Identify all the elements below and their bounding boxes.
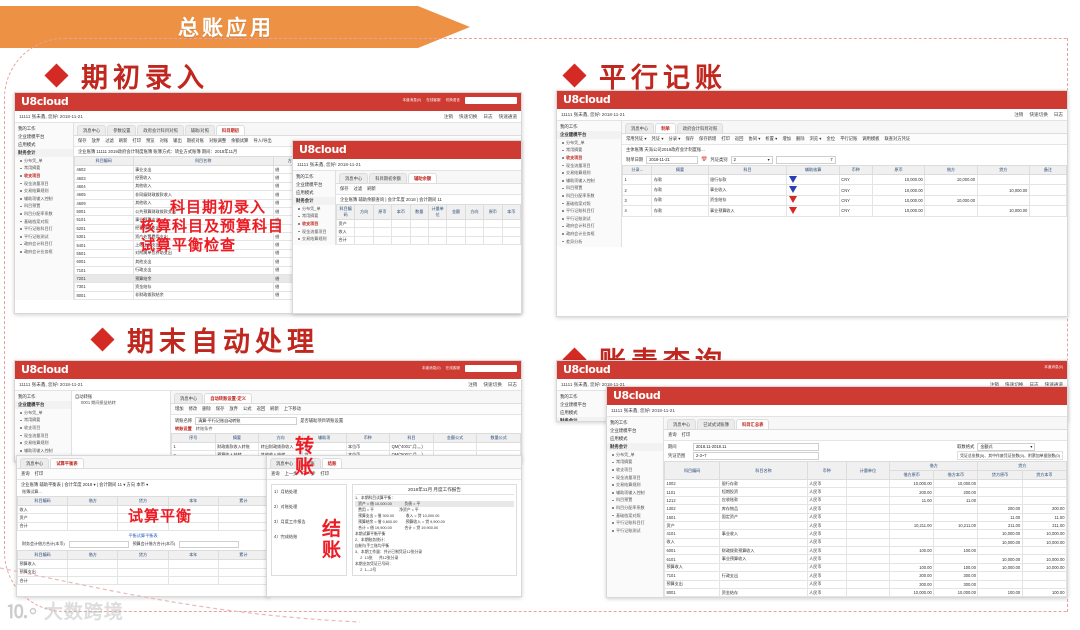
table-row: 8401经营结余人民币300.00300.00 <box>665 597 1067 598</box>
app-titlebar: U8cloud <box>607 387 1067 405</box>
sidebar-sub-item[interactable]: 基础档案对照 <box>607 512 663 520</box>
tab-settings[interactable]: 参数设置 <box>107 125 136 135</box>
sidebar-sub-item-selected[interactable]: 收支项目 <box>557 154 621 162</box>
section-label: 期末自动处理 <box>127 320 319 359</box>
tab-message-center[interactable]: 消息中心 <box>339 173 368 183</box>
col-group-debit: 借方 <box>890 462 978 471</box>
sidebar-sub-item[interactable]: 分布凭_单 <box>15 409 71 417</box>
cell-currency: 人民币 <box>807 530 846 538</box>
message-count[interactable]: 本道消息(0) <box>402 98 421 103</box>
cell-credit-base: 100.00 <box>1022 588 1066 596</box>
sidebar-item-platform[interactable]: 企业建模平台 <box>557 401 607 409</box>
cell-unit <box>846 513 889 521</box>
section-title-period-end: 期末自动处理 <box>94 320 319 359</box>
sidebar-sub-item[interactable]: 分布凭_单 <box>607 451 663 459</box>
tab-account-summary[interactable]: 科目汇总表 <box>736 419 769 429</box>
cell-code: 收入 <box>665 538 720 546</box>
sidebar-item-platform[interactable]: 企业建模平台 <box>293 181 335 189</box>
toolbar-button-2[interactable]: 删除 <box>202 406 211 412</box>
cell-credit-base <box>1022 547 1066 555</box>
sidebar-sub-item[interactable]: 科目分配率系数 <box>607 504 663 512</box>
cell-debit: 10,000.00 <box>925 175 977 185</box>
save-button[interactable]: 保存 <box>340 186 349 192</box>
online-service-link[interactable]: 在线客服 <box>426 98 440 103</box>
cell-abstract: 存款 <box>652 206 708 216</box>
trial-balance-link[interactable]: 平衡试算平衡表 <box>17 531 269 541</box>
sidebar-sub-item[interactable]: 政府会计科目打 <box>557 223 621 231</box>
cell-label: 收入 <box>337 228 355 236</box>
trial-query-line: 企业账簿 辅助平衡表 | 会计年度 2018 ▾ | 会计期间 11 ▾ 方向 … <box>17 480 269 489</box>
search-input[interactable] <box>465 97 517 104</box>
transfer-name-line: 转账名称 清算-平行记账自动转账 是否辅助项目转账设置 <box>171 415 521 426</box>
cell-value <box>68 560 118 568</box>
print-button[interactable]: 打印 <box>320 471 329 477</box>
cell-debit-orig: 300.00 <box>890 572 934 580</box>
sidebar-sub-item[interactable]: 辅助项输入控制 <box>15 195 73 203</box>
sidebar-sub-item[interactable]: 现金流量项目 <box>293 228 335 236</box>
aux-balance-table: 科目编码方向原币本币数量计量单位金额方向原币本币 资产收入合计 <box>336 204 521 245</box>
query-button[interactable]: 查询 <box>21 471 30 477</box>
sidebar-item-my-work[interactable]: 我的工作 <box>15 125 73 133</box>
toolbar-button-3[interactable]: 保存 <box>685 136 694 142</box>
toolbar-button-0[interactable]: 增加 <box>175 406 184 412</box>
sidebar-sub-item[interactable]: 交易结算规则 <box>607 481 663 489</box>
cell-currency: 人民币 <box>807 547 846 555</box>
budget-debit-total-label: 预算会计借方合计(本币) <box>133 541 176 548</box>
sidebar-sub-item[interactable]: 政府会计科目打 <box>15 241 73 249</box>
annotation-closing: 结 账 <box>322 519 342 561</box>
toolbar-button-7[interactable]: 刷新 <box>270 406 279 412</box>
cell-debit-base <box>934 513 978 521</box>
online-service-link[interactable]: 在线客服 <box>446 366 460 371</box>
reconcile-button[interactable]: 对账 <box>160 138 169 144</box>
cell-credit-base <box>1022 572 1066 580</box>
diamond-bullet-icon <box>562 63 586 87</box>
tab-message-center[interactable]: 消息中心 <box>625 123 654 133</box>
cell-name: 事业支出 <box>133 166 273 174</box>
sidebar-sub-item[interactable]: 常用摘要 <box>293 213 335 221</box>
sidebar-sub-item[interactable]: 差异分析 <box>557 238 621 246</box>
cell-value <box>68 522 118 530</box>
tab-aux-map[interactable]: 辅助i对照 <box>185 125 215 135</box>
sidebar-sub-item[interactable]: 科目分配率系数 <box>557 192 621 200</box>
sidebar-sub-item[interactable]: 平行记账测试 <box>607 527 663 535</box>
sidebar-item-my-work[interactable]: 我的工作 <box>607 419 663 427</box>
initial-reconcile-button[interactable]: 期初对账 <box>187 138 204 144</box>
sidebar-sub-item[interactable]: 分布凭_单 <box>15 157 73 165</box>
sidebar-sub-item[interactable]: 收支项目 <box>607 466 663 474</box>
cell-debit-base: 10,000.00 <box>934 480 978 488</box>
cell-currency: CNY <box>839 195 872 205</box>
user-actions: 注销 快速切换 日志 <box>1014 112 1063 118</box>
sidebar-item-platform[interactable]: 企业建模平台 <box>607 427 663 435</box>
refresh-button[interactable]: 刷新 <box>367 186 376 192</box>
sidebar-sub-item[interactable]: 常用摘要 <box>15 417 71 425</box>
sidebar-items: 分布凭_单常用摘要收支项目现金流量项目交易结算规则辅助项输入控制科目预置科目分配… <box>557 139 621 245</box>
sidebar-sub-item[interactable]: 分布凭_单 <box>293 205 335 213</box>
cell-code: 6101 <box>665 555 720 563</box>
cell-memo <box>1029 185 1066 195</box>
tab-auto-transfer-define[interactable]: 自动转账设置-定义 <box>204 393 252 403</box>
toolbar-button-13[interactable]: 平行记账 <box>840 136 857 142</box>
cell-formula: QM("4001",月,,,,) <box>390 443 434 451</box>
tab-message-center[interactable]: 消息中心 <box>174 393 203 403</box>
cell-name <box>720 521 807 529</box>
cell-credit: 10,000.00 <box>977 185 1029 195</box>
cell-currency: 人民币 <box>807 496 846 504</box>
toolbar: 查询 打印 <box>17 469 269 480</box>
toolbar-button-9[interactable]: 增加 <box>782 136 791 142</box>
print-button[interactable]: 打印 <box>682 432 691 438</box>
sidebar-item-financial-accounting[interactable]: 财务会计 <box>607 443 663 451</box>
section-title-initial-entry: 期初录入 <box>48 56 209 95</box>
toolbar-button-12[interactable]: 金位 <box>826 136 835 142</box>
table-row: 4101事业收入人民币10,000.0010,000.00 <box>665 530 1067 538</box>
tab-gov-account-map[interactable]: 政府会计科目对照 <box>137 125 183 135</box>
cell-code: 8401 <box>665 597 720 598</box>
reconcile-adjust-button[interactable]: 对账调整 <box>209 138 226 144</box>
sidebar-item-my-work[interactable]: 我的工作 <box>557 123 621 131</box>
tab-aux-balance[interactable]: 辅助余额 <box>408 173 437 183</box>
print-button[interactable]: 打印 <box>132 138 141 144</box>
cell-code: 8001 <box>665 588 720 596</box>
sidebar-item-platform[interactable]: 企业建模平台 <box>15 401 71 409</box>
quick-switch-link[interactable]: 快速切换 <box>483 382 501 388</box>
tab-message-center[interactable]: 消息中心 <box>20 458 49 468</box>
col-0: 科目编码 <box>18 497 68 506</box>
tab-message-center[interactable]: 消息中心 <box>77 125 106 135</box>
tab-three-column-ledger[interactable]: 已试式试账簿 <box>697 419 735 429</box>
flag-red-icon <box>789 207 797 214</box>
logout-link[interactable]: 注销 <box>1014 112 1023 118</box>
log-link[interactable]: 日志 <box>1054 112 1063 118</box>
toolbar-button-7[interactable]: 协同 ▾ <box>748 136 760 142</box>
sidebar-sub-item[interactable]: 辅助项输入控制 <box>557 177 621 185</box>
col-credit-base: 贷方本币 <box>1022 471 1066 480</box>
flag-blue-icon <box>789 176 797 183</box>
log-link[interactable]: 日志 <box>483 114 492 120</box>
save-button[interactable]: 保存 <box>78 138 87 144</box>
table-row: 1财政拨款收入转账转出财政拨款收入借本位币QM("4001",月,,,,) <box>172 443 521 451</box>
sidebar-sub-item[interactable]: 政府会计业务框 <box>15 248 73 256</box>
filter-button[interactable]: 过滤 <box>354 186 363 192</box>
sidebar-sub-item[interactable]: 现金流量项目 <box>15 180 73 188</box>
user-greeting: 11111 张未鑫, 您好! 2018-11-21 <box>611 408 675 414</box>
cell-credit-base: 10,000.00 <box>1022 555 1066 563</box>
toolbar-button-11[interactable]: 浏览 ▾ <box>810 136 822 142</box>
chevron-down-icon: ▾ <box>768 157 770 162</box>
cell-code: 6001 <box>75 258 134 266</box>
subtab-transfer-condition[interactable]: 转账条件 <box>196 426 213 432</box>
toolbar-button-6[interactable]: 返回 <box>735 136 744 142</box>
sidebar-sub-item[interactable]: 分布凭_单 <box>557 139 621 147</box>
sidebar-sub-item[interactable]: 基础档案对照 <box>557 200 621 208</box>
col-7: 方向 <box>465 205 483 220</box>
transfer-name-input[interactable]: 清算-平行记账自动转账 <box>195 417 297 425</box>
cell-value <box>484 236 502 244</box>
sidebar-sub-item[interactable]: 现金流量项目 <box>607 474 663 482</box>
sidebar-sub-item[interactable]: 科目预置 <box>557 185 621 193</box>
tab-account-initial[interactable]: 科目期初 <box>216 125 245 135</box>
window-body: 我的工作 企业建模平台 应用模式 财务会计 分布凭_单 常用摘要 收支项目 现金… <box>293 171 521 245</box>
sidebar-sub-item[interactable]: 辅助项输入控制 <box>15 447 71 455</box>
annotation-line: 核算科目及预算科目 <box>140 217 284 236</box>
tab-strip: 消息中心 自动转账设置-定义 <box>171 391 521 404</box>
col-group-credit: 贷方 <box>978 462 1067 471</box>
col-4: 币种 <box>839 166 872 175</box>
cell-unit <box>846 588 889 596</box>
cell-code: 7101 <box>665 572 720 580</box>
sidebar-sub-item-selected[interactable]: 收支项目 <box>15 172 73 180</box>
sub-tab-strip: 转账设置 转账条件 <box>171 426 521 433</box>
u8cloud-logo: U8cloud <box>557 91 1067 106</box>
sidebar-item-my-work[interactable]: 我的工作 <box>557 393 607 401</box>
cell-value <box>168 560 218 568</box>
sidebar-sub-item[interactable]: 交易结算规则 <box>293 235 335 243</box>
sidebar-sub-item[interactable]: 平行记账科目打 <box>557 207 621 215</box>
cell-code: 5301 <box>75 233 134 241</box>
sidebar-sub-item[interactable]: 平行记账科目打 <box>15 225 73 233</box>
discard-button[interactable]: 放弃 <box>92 138 101 144</box>
query-form: 期间 2018.11-2018.11 凭证范围 2-3~7 取数格式 金额式 ▾ <box>664 441 1067 461</box>
cell-name <box>720 580 807 588</box>
cell-debit-base: 300.00 <box>934 572 978 580</box>
mode-select[interactable]: 金额式 ▾ <box>977 443 1035 451</box>
cell-debit-base <box>934 538 978 546</box>
sidebar-sub-item[interactable]: 交易结算规则 <box>15 187 73 195</box>
user-bar: 11111 张未鑫, 您好! 2018-11-21 注销 快速切换 日志 <box>15 379 521 391</box>
quick-switch-link[interactable]: 快速切换 <box>1029 112 1047 118</box>
sidebar-item-platform[interactable]: 企业建模平台 <box>15 133 73 141</box>
sidebar-sub-item[interactable]: 交易结算规则 <box>15 439 71 447</box>
search-input[interactable] <box>465 365 517 372</box>
diamond-bullet-icon <box>90 327 114 351</box>
closing-step-2[interactable]: 2）对账处理 <box>274 504 344 510</box>
cell-code: 预算收入 <box>665 563 720 571</box>
preview-button[interactable]: 预览 <box>146 138 155 144</box>
cell-credit-base: 211.00 <box>1022 521 1066 529</box>
toolbar-button-3[interactable]: 保存 <box>216 406 225 412</box>
sidebar-item-apply-mode[interactable]: 应用模式 <box>15 141 73 149</box>
table-body: 1存款银行存款CNY10,000.0010,000.002存款事业收入CNY10… <box>623 175 1067 217</box>
sidebar-sub-item[interactable]: 常用摘要 <box>607 459 663 467</box>
toolbar-button-4[interactable]: 保存新增 <box>699 136 716 142</box>
cell-credit-base: 10,000.00 <box>1022 538 1066 546</box>
cell-value <box>118 576 168 584</box>
cell-name: 经营收入 <box>133 174 273 182</box>
tab-closing[interactable]: 结账 <box>322 458 343 468</box>
toolbar-button-5[interactable]: 打印 <box>721 136 730 142</box>
toolbar-button-2[interactable]: 分录 ▾ <box>669 136 681 142</box>
cell-code: 5001 <box>75 207 134 215</box>
sidebar-sub-item[interactable]: 交易结算规则 <box>557 169 621 177</box>
sidebar-sub-item[interactable]: 常用摘要 <box>15 165 73 173</box>
sidebar-item-platform[interactable]: 企业建模平台 <box>557 131 621 139</box>
sidebar-sub-item[interactable]: 辅助项输入控制 <box>607 489 663 497</box>
toolbar-button-8[interactable]: 析置 ▾ <box>765 136 777 142</box>
cell-aux-flag <box>787 206 839 216</box>
tab-gov-account-map[interactable]: 政府会计科目对照 <box>677 123 723 133</box>
sidebar-sub-item[interactable]: 科目分配率系数 <box>15 210 73 218</box>
annotation-char: 账 <box>295 457 315 478</box>
cell-unit <box>846 530 889 538</box>
sidebar-item-financial-accounting[interactable]: 财务会计 <box>293 197 335 205</box>
sidebar-sub-item-selected[interactable]: 收支项目 <box>293 220 335 228</box>
filter-button[interactable]: 过滤 <box>105 138 114 144</box>
cell-code: 4609 <box>75 199 134 207</box>
sidebar-item-financial-accounting[interactable]: 财务会计 <box>15 149 73 157</box>
toolbar-button-6[interactable]: 返回 <box>257 406 266 412</box>
tree-child-node[interactable]: 0001 期间损益结转 <box>75 400 167 406</box>
table-row: 1601固定资产人民币11.0011.00 <box>665 513 1067 521</box>
voucher-type-select[interactable]: 2 ▾ <box>731 156 773 164</box>
message-count[interactable]: 本道消息(0) <box>422 366 441 371</box>
table-row: 1302库存物品人民币200.00200.00 <box>665 505 1067 513</box>
sidebar-item-my-work[interactable]: 我的工作 <box>15 393 71 401</box>
voucher-number-input[interactable]: 7 <box>776 156 836 164</box>
toolbar-button-1[interactable]: 修改 <box>189 406 198 412</box>
toolbar-button-4[interactable]: 放弃 <box>229 406 238 412</box>
sidebar-sub-item[interactable]: 现金流量项目 <box>557 162 621 170</box>
titlebar-actions: 本道消息(0) 在线客服 切换语言 <box>402 97 517 104</box>
sidebar-sub-item[interactable]: 平行记账测试 <box>15 233 73 241</box>
cell-currency: 人民币 <box>807 555 846 563</box>
toolbar-button-8[interactable]: 上下移动 <box>284 406 301 412</box>
date-input[interactable]: 2018-11-21 <box>646 156 698 164</box>
cell-value <box>218 560 268 568</box>
sidebar-item-apply-mode[interactable]: 应用模式 <box>607 435 663 443</box>
message-count[interactable]: 本道消息(0) <box>1044 365 1063 370</box>
sidebar-item-apply-mode[interactable]: 应用模式 <box>293 189 335 197</box>
col-0: 序号 <box>172 434 216 443</box>
logout-link[interactable]: 注销 <box>444 114 453 120</box>
table-row: 4存款事业预算收入CNY10,000.0010,000.00 <box>623 206 1067 216</box>
closing-step-1[interactable]: 1）月结处理 <box>274 489 344 495</box>
sidebar-item-my-work[interactable]: 我的工作 <box>293 173 335 181</box>
date-label: 制单日期 <box>626 157 643 163</box>
switch-language-link[interactable]: 切换语言 <box>446 98 460 103</box>
tab-account-initial-balance[interactable]: 科目期初余额 <box>369 173 407 183</box>
sidebar-sub-item[interactable]: 常用摘要 <box>557 147 621 155</box>
tab-voucher-entry[interactable]: 制单 <box>655 123 676 133</box>
cell-value <box>392 236 410 244</box>
export-button[interactable]: 输出 <box>173 138 182 144</box>
cell-name: 资金结存 <box>133 283 273 291</box>
query-button[interactable]: 查询 <box>271 471 280 477</box>
cell-debit-orig <box>890 513 934 521</box>
sidebar-sub-item[interactable]: 平行记账科目打 <box>607 519 663 527</box>
sidebar-sub-item[interactable]: 基础档案对照 <box>15 218 73 226</box>
refresh-button[interactable]: 刷新 <box>119 138 128 144</box>
sidebar-sub-item[interactable]: 平行记账测试 <box>557 215 621 223</box>
balance-trial-button[interactable]: 余额试算 <box>231 138 248 144</box>
quick-channel-link[interactable]: 快速通道 <box>499 114 517 120</box>
query-button[interactable]: 查询 <box>668 432 677 438</box>
annotation-char: 结 <box>322 519 342 540</box>
quick-switch-link[interactable]: 快速切换 <box>459 114 477 120</box>
col-1: 借方 <box>68 551 118 560</box>
log-link[interactable]: 日志 <box>508 382 517 388</box>
tab-message-center[interactable]: 消息中心 <box>667 419 696 429</box>
cell-debit-orig: 300.00 <box>890 580 934 588</box>
cell-label: 资产 <box>337 220 355 228</box>
cell-value <box>373 220 391 228</box>
tab-strip: 消息中心 参数设置 政府会计科目对照 辅助i对照 科目期初 <box>74 123 521 136</box>
app-titlebar: U8cloud 本道消息(0) 在线客服 <box>15 361 521 379</box>
window-parallel-entry: U8cloud 11111 张未鑫, 您好! 2018-11-21 注销 快速切… <box>556 90 1068 317</box>
sidebar-sub-item[interactable]: 现金流量项目 <box>15 432 71 440</box>
cell-name: 库存物品 <box>720 505 807 513</box>
cell-debit-orig: 200.00 <box>890 488 934 496</box>
voucher-range-input[interactable]: 2-3~7 <box>693 452 819 460</box>
cell-unit <box>846 597 889 598</box>
query-form-right: 取数格式 金额式 ▾ 凭证总张数(5)、其中作废凭证张数(0)、附票加单据张数(… <box>957 442 1063 460</box>
trial-query-text: 企业账簿 辅助平衡表 | 会计年度 2018 ▾ | 会计期间 11 ▾ 方向 … <box>21 482 148 488</box>
sidebar-sub-item[interactable]: 政府会计业务框 <box>557 230 621 238</box>
sidebar-sub-item[interactable]: 收支项目 <box>15 424 71 432</box>
cell-account: 资金结存 <box>708 195 787 205</box>
cell-credit <box>977 195 1029 205</box>
cell-value <box>168 576 218 584</box>
cell-code: 资产 <box>665 521 720 529</box>
cell-value <box>218 506 268 514</box>
cell-credit-orig: 10,000.00 <box>978 563 1022 571</box>
col-2: 贷方 <box>118 551 168 560</box>
logout-link[interactable]: 注销 <box>468 382 477 388</box>
toolbar-button-5[interactable]: 公式 <box>243 406 252 412</box>
mode-row: 取数格式 金额式 ▾ <box>957 442 1063 451</box>
annotation-initial-entry: 科目期初录入 核算科目及预算科目 试算平衡检查 <box>170 198 284 255</box>
table-header-row: 科目编码方向原币本币数量计量单位金额方向原币本币 <box>337 205 521 220</box>
table-row: 收入 <box>337 228 521 236</box>
cell-debit-base: 300.00 <box>934 580 978 588</box>
cell-debit <box>925 185 977 195</box>
toolbar-button-15[interactable]: 联查对方凭证 <box>884 136 910 142</box>
table-row: 资产人民币10,211.0010,211.00211.00211.00 <box>665 521 1067 529</box>
cell-name <box>720 563 807 571</box>
cell-value <box>355 228 373 236</box>
toolbar-button-0[interactable]: 常用凭证 ▾ <box>626 136 647 142</box>
sidebar-sub-item[interactable]: 科目预置 <box>607 497 663 505</box>
tab-trial-balance[interactable]: 试算平衡表 <box>50 458 83 468</box>
import-export-button[interactable]: 导入/导出 <box>253 138 271 144</box>
table-row: 预算收入 <box>18 560 269 568</box>
toolbar-button-1[interactable]: 凭证 ▾ <box>652 136 664 142</box>
subject-text: 主体账簿 天海公司2019政府会计制度账... <box>626 147 705 153</box>
cell-code: 4605 <box>75 191 134 199</box>
table-row: 合计 <box>18 576 269 584</box>
cell-credit-base: 11.00 <box>1022 513 1066 521</box>
col-name: 科目名称 <box>133 157 273 166</box>
toolbar-button-10[interactable]: 删除 <box>796 136 805 142</box>
sidebar-item-apply-mode[interactable]: 应用模式 <box>557 409 607 417</box>
calendar-icon[interactable]: 📅 <box>701 157 707 163</box>
subject-line: 主体账簿 天海公司2019政府会计制度账... <box>622 145 1067 154</box>
subtab-transfer-setting[interactable]: 转账设置 <box>175 426 192 432</box>
tab-strip: 消息中心 已试式试账簿 科目汇总表 <box>664 417 1067 430</box>
report-lines: 1、本期科目试算平衡： 资产 = 借 10,000.00 负债 = 平 费用 =… <box>355 495 514 573</box>
cell-name: 行政支出 <box>133 266 273 274</box>
col-0: 科目编码 <box>18 551 68 560</box>
cell-unit <box>846 521 889 529</box>
print-button[interactable]: 打印 <box>35 471 44 477</box>
period-input[interactable]: 2018.11-2018.11 <box>693 443 819 451</box>
sidebar-sub-item[interactable]: 科目预置 <box>15 203 73 211</box>
table-row: 预算支出人民币300.00300.00 <box>665 580 1067 588</box>
toolbar-button-14[interactable]: 调用模板 <box>862 136 879 142</box>
sidebar-item-financial-accounting[interactable]: 财务会计 <box>557 417 607 422</box>
col-4: 币种 <box>346 434 390 443</box>
